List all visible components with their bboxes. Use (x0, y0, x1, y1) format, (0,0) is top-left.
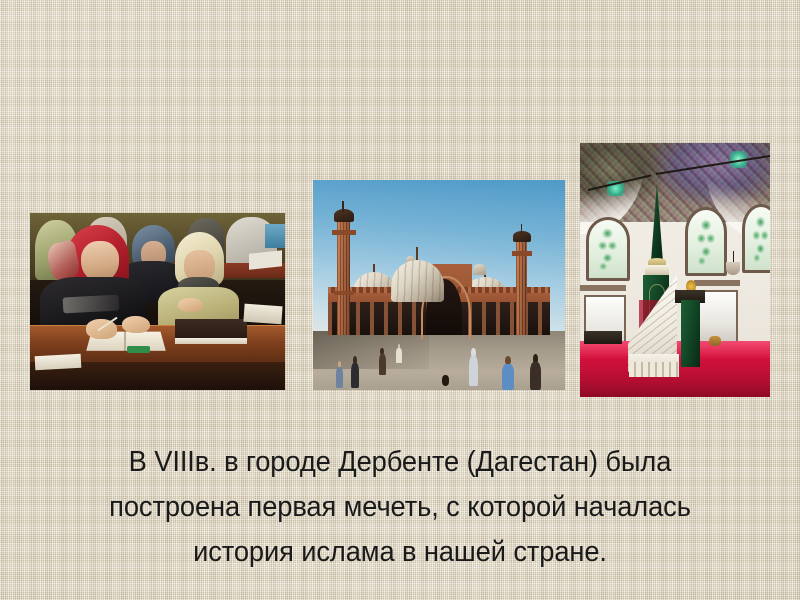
visitor-body (502, 364, 514, 390)
mosque-courtyard-shadow (313, 331, 429, 369)
photo-classroom-content (30, 213, 285, 390)
classroom-left-paper (35, 353, 82, 370)
photo-mosque-interior (580, 143, 770, 397)
interior-hanging-lamp (726, 262, 739, 275)
classroom-hand-2 (122, 316, 150, 334)
visitor-body (336, 367, 344, 388)
minbar-base (629, 354, 678, 377)
mosque-visitor-7 (396, 344, 402, 363)
classroom-student-red-face (81, 241, 119, 282)
visitor-body (396, 348, 402, 363)
classroom-right-paper (244, 304, 283, 324)
interior-doorway-header-right (694, 280, 740, 286)
visitor-body (469, 356, 478, 385)
interior-green-lectern (681, 300, 700, 366)
photo-mosque-interior-content (580, 143, 770, 397)
interior-arched-window-right (742, 204, 771, 274)
interior-arched-window-middle (685, 207, 727, 277)
visitor-body (351, 363, 359, 388)
interior-arched-window-left (586, 217, 630, 281)
classroom-blue-folder (265, 224, 285, 249)
classroom-dark-book (175, 319, 246, 344)
mosque-minaret-left-balcony-lower (334, 291, 354, 295)
mosque-courtyard-bag (442, 375, 450, 386)
mosque-visitor-6 (530, 354, 542, 390)
mosque-visitor-4 (469, 348, 478, 386)
classroom-green-bookmark (127, 346, 150, 353)
mosque-visitor-1 (351, 356, 359, 388)
interior-window-stained-glass (693, 216, 719, 267)
interior-doorway-header-left (580, 285, 626, 291)
visitor-body (530, 362, 542, 390)
mosque-minaret-left-finial (342, 201, 344, 212)
mosque-minaret-left-balcony-upper (332, 230, 356, 235)
visitor-body (379, 354, 386, 375)
mosque-visitor-2 (336, 361, 344, 388)
mosque-visitor-3 (379, 348, 386, 375)
interior-window-stained-glass (594, 225, 621, 272)
mosque-minaret-right-finial (521, 224, 523, 233)
interior-slippers (709, 336, 720, 346)
classroom-hand-3 (178, 298, 204, 312)
mosque-visitor-5 (502, 356, 514, 390)
photo-mosque-exterior (313, 180, 565, 390)
photo-classroom-students (30, 213, 285, 390)
classroom-student-red-shirt-print (63, 295, 120, 314)
interior-window-stained-glass (749, 213, 770, 264)
mosque-minaret-right-balcony (512, 251, 532, 255)
presentation-slide: В VIIIв. в городе Дербенте (Дагестан) бы… (0, 0, 800, 600)
mosque-kiosk-chhatri (473, 264, 486, 275)
photo-mosque-exterior-content (313, 180, 565, 390)
slide-caption: В VIIIв. в городе Дербенте (Дагестан) бы… (50, 440, 749, 575)
interior-bench (584, 331, 622, 344)
